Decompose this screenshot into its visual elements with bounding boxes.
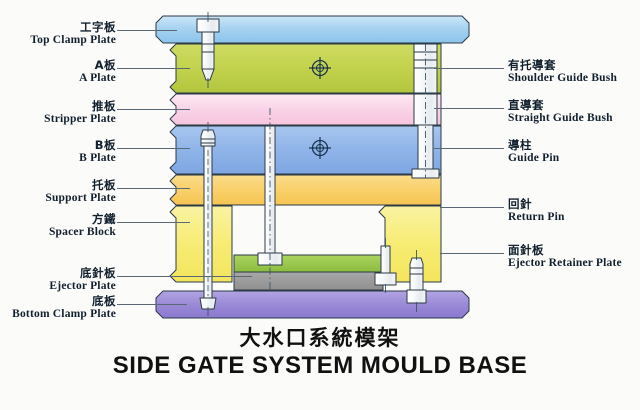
leader-ejector-plate (117, 276, 252, 277)
label-shoulder-guide-bush: 有托導套 Shoulder Guide Bush (508, 59, 617, 85)
label-b-plate: B板 B Plate (79, 139, 116, 165)
label-b-plate-cn: B板 (79, 139, 116, 152)
label-ejector-retainer-plate-en: Ejector Retainer Plate (508, 257, 622, 270)
label-shoulder-guide-bush-cn: 有托導套 (508, 59, 617, 72)
title-english: SIDE GATE SYSTEM MOULD BASE (0, 352, 640, 380)
label-ejector-retainer-plate-cn: 面針板 (508, 244, 622, 257)
label-spacer-block-en: Spacer Block (49, 226, 116, 239)
label-ejector-plate-en: Ejector Plate (49, 280, 116, 293)
label-a-plate-en: A Plate (79, 72, 116, 85)
leader-a-plate (117, 68, 190, 69)
label-ejector-plate: 底針板 Ejector Plate (49, 267, 116, 293)
label-bottom-clamp-plate-en: Bottom Clamp Plate (12, 308, 116, 321)
part-shoulder-guide-bush-body (414, 52, 437, 93)
label-guide-pin-cn: 導柱 (508, 139, 559, 152)
label-stripper-plate: 推板 Stripper Plate (44, 100, 116, 126)
label-return-pin-cn: 回針 (508, 198, 565, 211)
mould-base-diagram-page: 工字板 Top Clamp Plate A板 A Plate 推板 Stripp… (0, 0, 640, 410)
label-bottom-clamp-plate-cn: 底板 (12, 295, 116, 308)
label-a-plate: A板 A Plate (79, 59, 116, 85)
label-top-clamp-plate: 工字板 Top Clamp Plate (30, 21, 116, 47)
leader-straight-guide-bush (434, 108, 504, 109)
title-chinese: 大水口系統模架 (0, 322, 640, 352)
leader-stripper-plate (117, 109, 190, 110)
leader-top-clamp-plate (117, 30, 177, 31)
leader-spacer-block (117, 222, 190, 223)
label-shoulder-guide-bush-en: Shoulder Guide Bush (508, 72, 617, 85)
leader-support-plate (117, 188, 190, 189)
label-top-clamp-plate-en: Top Clamp Plate (30, 34, 116, 47)
label-straight-guide-bush: 直導套 Straight Guide Bush (508, 99, 613, 125)
label-guide-pin: 導柱 Guide Pin (508, 139, 559, 165)
label-spacer-block-cn: 方鐵 (49, 213, 116, 226)
label-support-plate: 托板 Support Plate (45, 179, 116, 205)
label-top-clamp-plate-cn: 工字板 (30, 21, 116, 34)
label-b-plate-en: B Plate (79, 152, 116, 165)
part-ejector-plate (234, 272, 383, 290)
leader-b-plate (117, 148, 190, 149)
label-a-plate-cn: A板 (79, 59, 116, 72)
leader-guide-pin (434, 148, 504, 149)
label-guide-pin-en: Guide Pin (508, 152, 559, 165)
label-stripper-plate-cn: 推板 (44, 100, 116, 113)
leader-bottom-clamp-plate (117, 304, 187, 305)
part-ejector-retainer-plate (234, 255, 383, 272)
part-spacer-block-left (170, 206, 232, 282)
part-stripper-plate (170, 94, 441, 125)
leader-return-pin (440, 207, 504, 208)
label-stripper-plate-en: Stripper Plate (44, 113, 116, 126)
label-return-pin-en: Return Pin (508, 211, 565, 224)
label-support-plate-cn: 托板 (45, 179, 116, 192)
label-ejector-plate-cn: 底針板 (49, 267, 116, 280)
label-straight-guide-bush-en: Straight Guide Bush (508, 112, 613, 125)
label-bottom-clamp-plate: 底板 Bottom Clamp Plate (12, 295, 116, 321)
leader-ejector-retainer-plate (440, 253, 504, 254)
label-support-plate-en: Support Plate (45, 192, 116, 205)
label-return-pin: 回針 Return Pin (508, 198, 565, 224)
label-spacer-block: 方鐵 Spacer Block (49, 213, 116, 239)
label-ejector-retainer-plate: 面針板 Ejector Retainer Plate (508, 244, 622, 270)
leader-shoulder-guide-bush (434, 68, 504, 69)
label-straight-guide-bush-cn: 直導套 (508, 99, 613, 112)
